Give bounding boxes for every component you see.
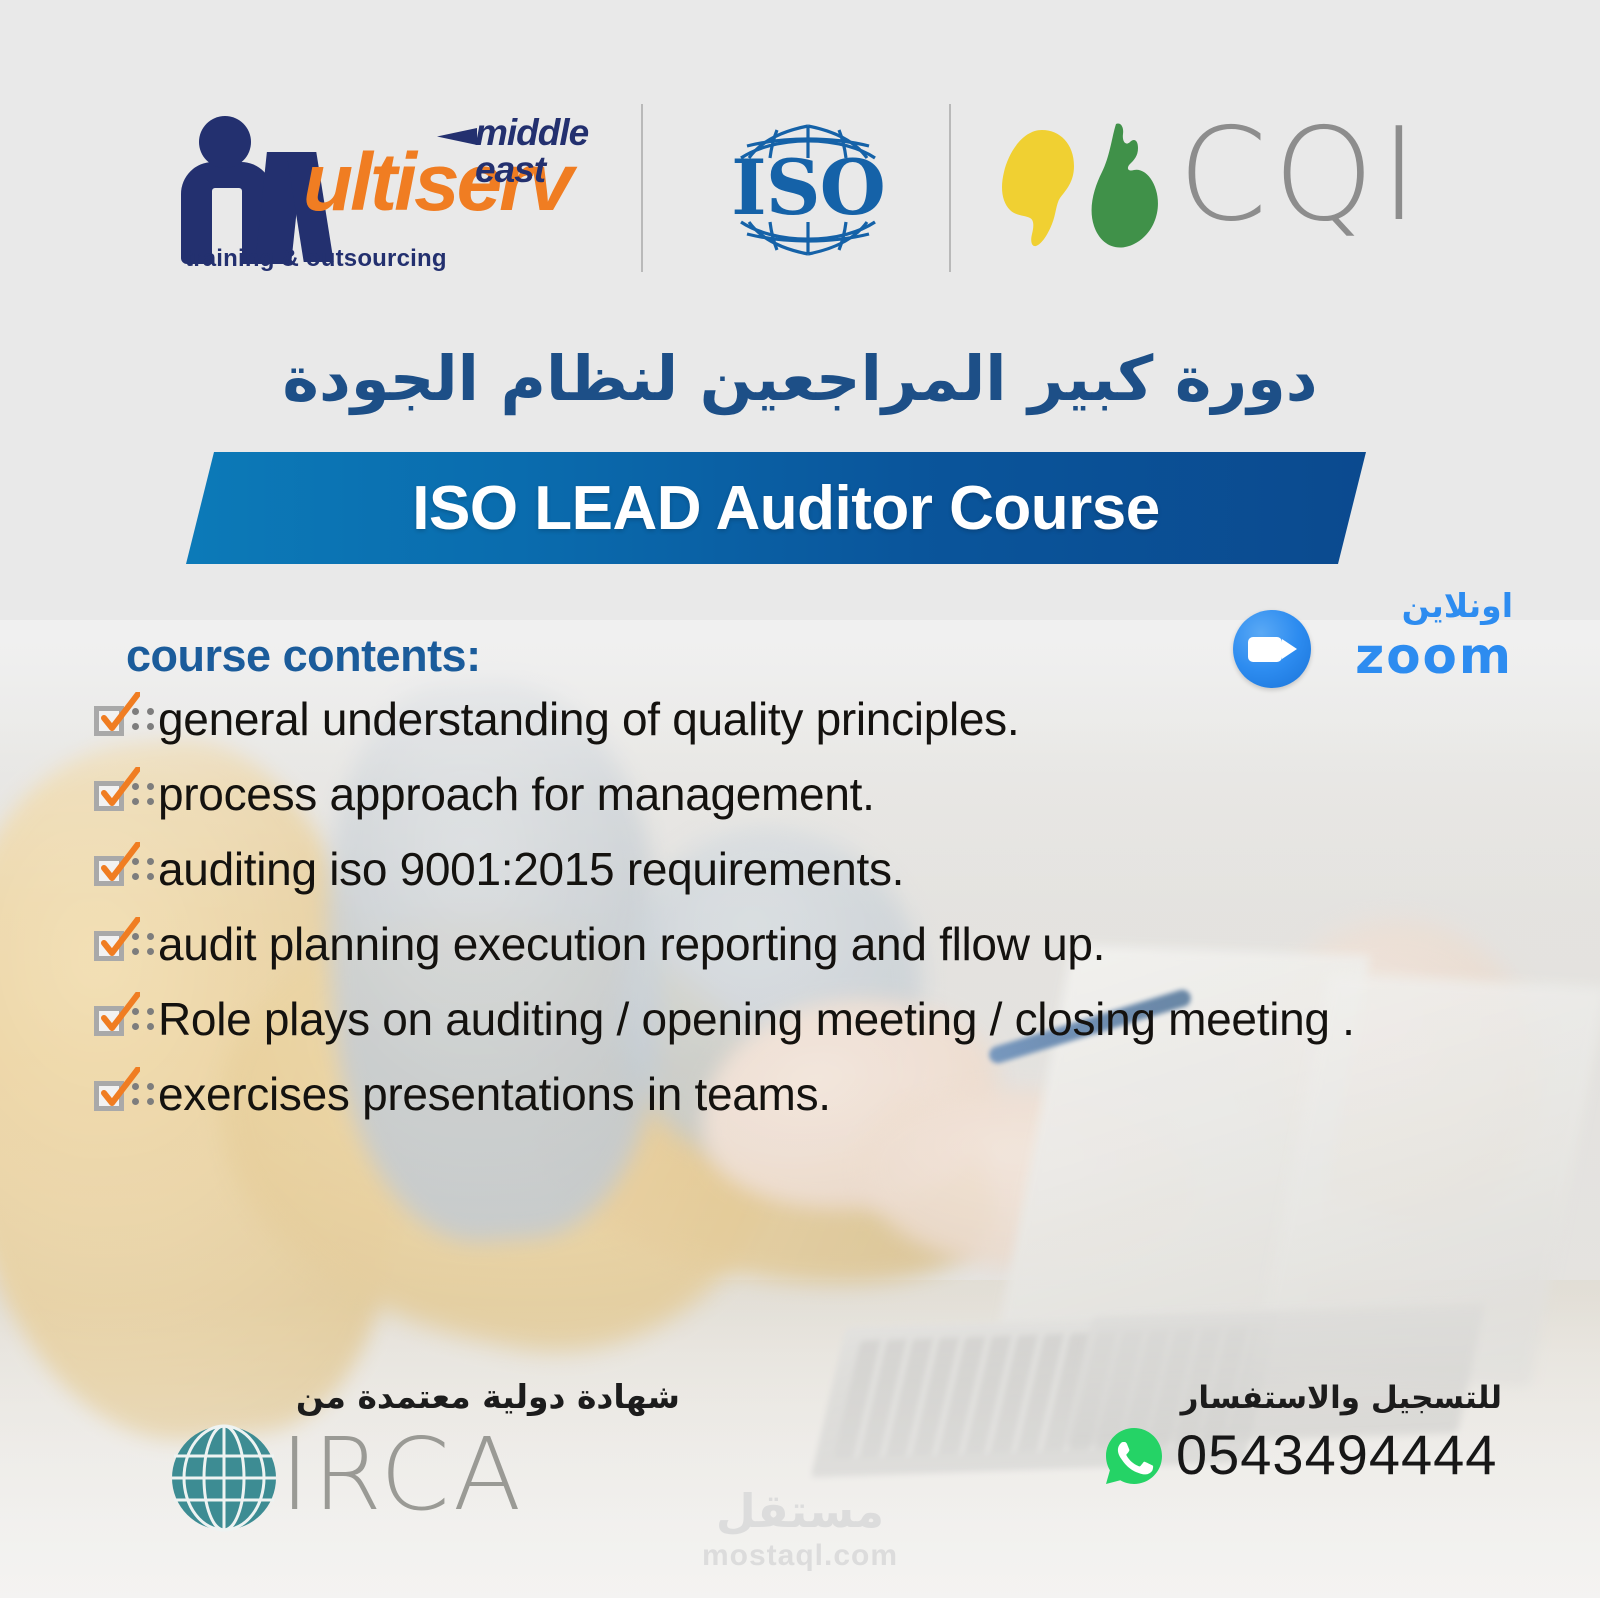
watermark: مستقل mostaql.com xyxy=(0,1486,1600,1576)
watermark-domain: mostaql.com xyxy=(0,1536,1600,1576)
contact-arabic-label: للتسجيل والاستفسار xyxy=(1181,1378,1502,1418)
cqi-yellow-blob-icon xyxy=(998,128,1082,248)
cqi-wordmark: CQI xyxy=(1178,112,1424,240)
svg-text:ISO: ISO xyxy=(731,143,885,232)
checkbox-tick-icon xyxy=(92,698,158,744)
multiserv-logo: ultiserv middle east training & outsourc… xyxy=(175,106,595,276)
arabic-course-title: دورة كبير المراجعين لنظام الجودة xyxy=(0,340,1600,418)
multiserv-tagline: training & outsourcing xyxy=(185,247,447,271)
cqi-logo: CQI xyxy=(990,110,1410,270)
list-item: audit planning execution reporting and f… xyxy=(92,915,1522,973)
list-item: auditing iso 9001:2015 requirements. xyxy=(92,840,1522,898)
zoom-wordmark: zoom xyxy=(1329,628,1513,684)
course-title-banner: ISO LEAD Auditor Course xyxy=(186,452,1366,564)
checkbox-tick-icon xyxy=(92,923,158,969)
logo-divider-2 xyxy=(949,104,951,272)
cqi-green-blob-icon xyxy=(1090,122,1162,250)
list-item-label: exercises presentations in teams. xyxy=(158,1065,831,1123)
poster-canvas: ultiserv middle east training & outsourc… xyxy=(0,0,1600,1598)
list-item: Role plays on auditing / opening meeting… xyxy=(92,990,1522,1048)
course-contents-heading: course contents: xyxy=(126,630,481,682)
checkbox-tick-icon xyxy=(92,998,158,1044)
iso-logo: ISO xyxy=(717,110,899,270)
watermark-arabic: مستقل xyxy=(0,1486,1600,1536)
contact-phone-number[interactable]: 0543494444 xyxy=(1176,1422,1497,1488)
whatsapp-icon xyxy=(1104,1426,1164,1486)
list-item-label: general understanding of quality princip… xyxy=(158,690,1019,748)
logo-divider-1 xyxy=(641,104,643,272)
list-item-label: process approach for management. xyxy=(158,765,875,823)
zoom-online-badge: اونلاين zoom xyxy=(1233,588,1513,696)
multiserv-region-label: middle east xyxy=(475,114,595,188)
accreditation-arabic-label: شهادة دولية معتمدة من xyxy=(296,1376,680,1418)
list-item-label: auditing iso 9001:2015 requirements. xyxy=(158,840,904,898)
course-contents-list: general understanding of quality princip… xyxy=(92,690,1522,1140)
checkbox-tick-icon xyxy=(92,773,158,819)
logo-row: ultiserv middle east training & outsourc… xyxy=(0,96,1600,286)
list-item: exercises presentations in teams. xyxy=(92,1065,1522,1123)
zoom-online-arabic-label: اونلاين xyxy=(1329,588,1513,624)
list-item-label: Role plays on auditing / opening meeting… xyxy=(158,990,1355,1048)
zoom-video-icon xyxy=(1233,610,1311,688)
list-item: general understanding of quality princip… xyxy=(92,690,1522,748)
list-item: process approach for management. xyxy=(92,765,1522,823)
checkbox-tick-icon xyxy=(92,848,158,894)
multiserv-figure-head xyxy=(199,116,251,168)
iso-globe-icon: ISO xyxy=(717,110,899,270)
checkbox-tick-icon xyxy=(92,1073,158,1119)
list-item-label: audit planning execution reporting and f… xyxy=(158,915,1105,973)
course-title-text: ISO LEAD Auditor Course xyxy=(186,452,1366,564)
